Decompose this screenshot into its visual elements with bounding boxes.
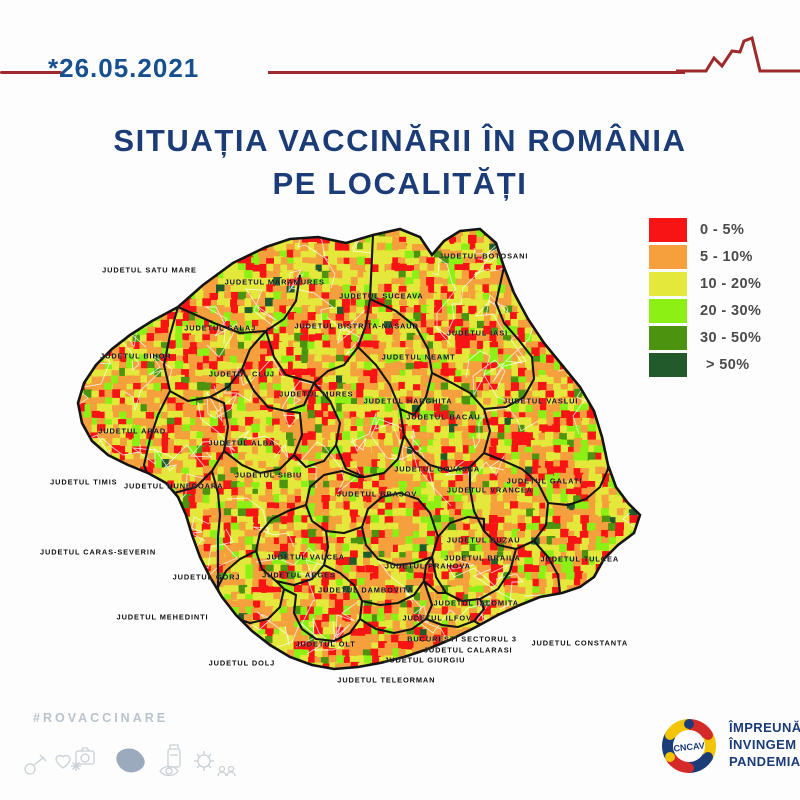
county-label: JUDETUL IALOMITA <box>433 598 519 607</box>
syringe-icon <box>25 755 46 774</box>
legend-row: 30 - 50% <box>648 324 788 351</box>
county-label: JUDETUL TIMIS <box>50 478 117 487</box>
county-label: JUDETUL CONSTANTA <box>531 639 628 648</box>
county-label: JUDETUL SIBIU <box>235 470 302 479</box>
infographic-page: *26.05.2021 SITUAȚIA VACCINĂRII ÎN ROMÂN… <box>0 0 800 800</box>
legend-label: 5 - 10% <box>700 249 753 265</box>
county-label: JUDETUL DOLJ <box>209 659 276 668</box>
county-label: JUDETUL BUZAU <box>447 535 521 544</box>
legend-swatch <box>648 325 688 351</box>
legend-row: 0 - 5% <box>648 216 788 243</box>
page-title-line2: PE LOCALITĂȚI <box>0 163 800 206</box>
county-label: JUDETUL COVASNA <box>394 465 480 474</box>
cncav-logo: CNCAV ÎMPREUNĂ ÎNVINGEM PANDEMIA <box>657 712 797 780</box>
legend-row: 5 - 10% <box>648 243 788 270</box>
snowflake-icon <box>71 761 81 771</box>
vaccine-vial-icon <box>168 745 180 767</box>
county-label: JUDETUL VRANCEA <box>447 485 533 494</box>
logo-slogan: ÎMPREUNĂ ÎNVINGEM PANDEMIA <box>729 719 800 770</box>
county-label: JUDETUL HARGHITA <box>364 396 453 405</box>
county-label: JUDETUL ARGES <box>262 571 336 580</box>
header-rule-middle <box>268 71 685 74</box>
eye-icon <box>160 767 178 776</box>
logo-slogan-line1: ÎMPREUNĂ <box>729 719 800 736</box>
legend-row: 10 - 20% <box>648 270 788 297</box>
legend-row: > 50% <box>648 351 788 378</box>
logo-slogan-line3: PANDEMIA <box>729 753 800 770</box>
legend-swatch <box>648 244 688 270</box>
report-date: *26.05.2021 <box>48 53 199 84</box>
logo-slogan-line2: ÎNVINGEM <box>729 736 800 753</box>
county-label: JUDETUL PRAHOVA <box>385 561 471 570</box>
county-label: JUDETUL MURES <box>279 390 353 399</box>
page-title-line1: SITUAȚIA VACCINĂRII ÎN ROMÂNIA <box>113 123 686 158</box>
county-label: JUDETUL BISTRITA-NASAUD <box>294 321 418 330</box>
legend-row: 20 - 30% <box>648 297 788 324</box>
county-label: JUDETUL GIURGIU <box>384 655 465 664</box>
legend-swatch <box>648 298 688 324</box>
hashtag-rovaccinare: #ROVACCINARE <box>33 711 168 725</box>
camera-icon <box>76 748 94 764</box>
county-label: JUDETUL TULCEA <box>541 555 620 564</box>
county-label-layer: JUDETUL SATU MAREJUDETUL MARAMURESJUDETU… <box>28 215 648 705</box>
legend: 0 - 5% 5 - 10% 10 - 20% 20 - 30% 30 - 50… <box>648 216 788 378</box>
county-label: JUDETUL CLUJ <box>209 370 275 379</box>
people-icon <box>218 767 235 777</box>
county-label: JUDETUL SALAJ <box>184 323 256 332</box>
legend-label: 30 - 50% <box>700 330 761 346</box>
watermark-icon-strip <box>18 729 248 781</box>
county-label: JUDETUL MARAMURES <box>225 278 325 287</box>
legend-swatch <box>648 271 688 297</box>
county-label: JUDETUL VALCEA <box>267 553 345 562</box>
legend-swatch <box>648 217 688 243</box>
county-label: JUDETUL ALBA <box>208 439 275 448</box>
county-label: JUDETUL BRASOV <box>337 490 417 499</box>
county-label: JUDETUL CARAS-SEVERIN <box>40 547 156 556</box>
legend-label: > 50% <box>706 357 750 373</box>
romania-choropleth-map: JUDETUL SATU MAREJUDETUL MARAMURESJUDETU… <box>28 215 648 705</box>
county-label: JUDETUL ILFOV <box>402 614 471 623</box>
heart-hands-icon <box>56 756 70 768</box>
county-label: JUDETUL NEAMT <box>382 353 456 362</box>
county-label: JUDETUL CALARASI <box>424 645 513 654</box>
legend-label: 10 - 20% <box>700 276 761 292</box>
legend-label: 20 - 30% <box>700 303 761 319</box>
county-label: JUDETUL BIHOR <box>100 352 172 361</box>
cncav-mark-icon: CNCAV <box>657 714 721 778</box>
page-title: SITUAȚIA VACCINĂRII ÎN ROMÂNIA PE LOCALI… <box>0 120 800 206</box>
county-label: JUDETUL DAMBOVITA <box>318 586 414 595</box>
heartbeat-line-icon <box>676 26 800 78</box>
virus-icon <box>194 751 214 771</box>
county-label: JUDETUL TELEORMAN <box>337 675 435 684</box>
county-label: JUDETUL SATU MARE <box>102 266 197 275</box>
county-label: JUDETUL SUCEAVA <box>339 291 424 300</box>
legend-label: 0 - 5% <box>700 222 744 238</box>
county-label: JUDETUL HUNEDOARA <box>124 481 223 490</box>
legend-swatch <box>648 352 688 378</box>
county-label: JUDETUL GALATI <box>507 476 583 485</box>
county-label: JUDETUL ARAD <box>98 427 166 436</box>
county-label: JUDETUL VASLUI <box>503 396 578 405</box>
county-label: JUDETUL BOTOSANI <box>439 251 528 260</box>
romania-map-icon <box>116 749 144 773</box>
county-label: BUCURESTI SECTORUL 3 <box>407 635 517 644</box>
county-label: JUDETUL BACAU <box>406 412 480 421</box>
county-label: JUDETUL GORJ <box>173 572 241 581</box>
county-label: JUDETUL OLT <box>296 640 356 649</box>
county-label: JUDETUL IASI <box>447 328 508 337</box>
county-label: JUDETUL MEHEDINTI <box>117 613 209 622</box>
